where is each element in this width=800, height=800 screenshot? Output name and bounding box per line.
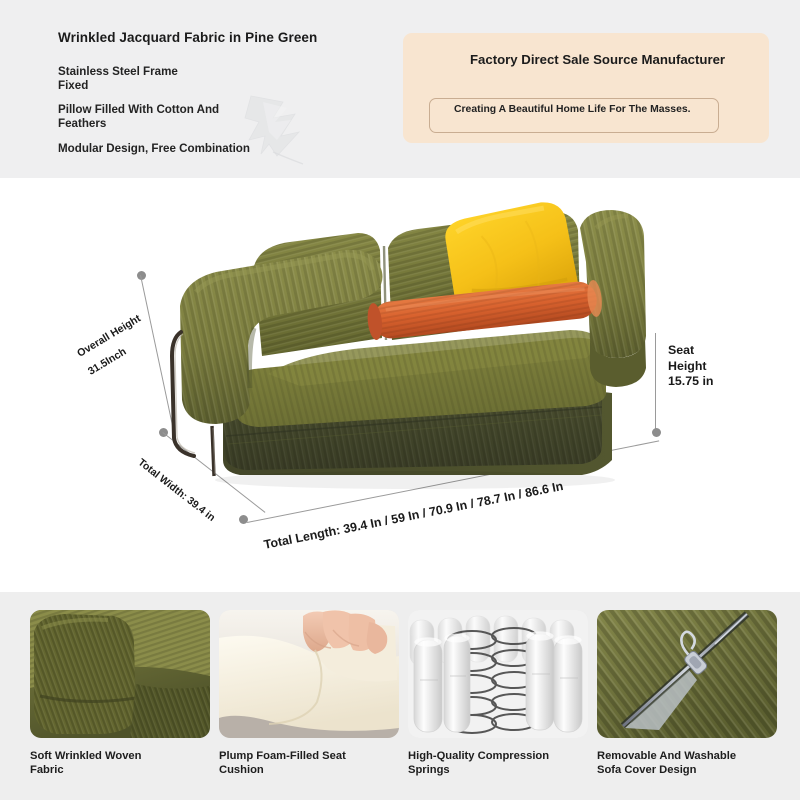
header-left-block: Wrinkled Jacquard Fabric in Pine Green S…: [58, 30, 388, 166]
feature-caption: Soft Wrinkled Woven Fabric: [30, 749, 210, 777]
feature-card[interactable]: Plump Foam-Filled Seat Cushion: [219, 610, 399, 777]
header-feature-list: Stainless Steel Frame Fixed Pillow Fille…: [58, 65, 388, 155]
slogan-box: Creating A Beautiful Home Life For The M…: [429, 98, 719, 133]
slogan-text: Creating A Beautiful Home Life For The M…: [454, 103, 704, 117]
dim-label-seat-height: Seat Height 15.75 in: [668, 343, 713, 390]
feature-card[interactable]: High-Quality Compression Springs: [408, 610, 588, 777]
page-title: Wrinkled Jacquard Fabric in Pine Green: [58, 30, 388, 47]
feature-caption: Plump Foam-Filled Seat Cushion: [219, 749, 399, 777]
product-detail-page: Wrinkled Jacquard Fabric in Pine Green S…: [0, 0, 800, 800]
hero-product-area: Overall Height 31.5Inch Total Width: 39.…: [0, 178, 800, 592]
header-feature-item: Modular Design, Free Combination: [58, 142, 388, 156]
feature-caption: Removable And Washable Sofa Cover Design: [597, 749, 777, 777]
corduroy-fabric-photo: [30, 610, 210, 738]
factory-promo-title: Factory Direct Sale Source Manufacturer: [470, 51, 750, 70]
header-feature-item: Stainless Steel Frame Fixed: [58, 65, 388, 92]
dim-label-overall-height: Overall Height 31.5Inch: [73, 309, 156, 382]
pocket-springs-photo: [408, 610, 588, 738]
sofa-illustration: [150, 188, 670, 528]
factory-promo-panel: Factory Direct Sale Source Manufacturer …: [403, 33, 769, 143]
zipper-cover-photo: [597, 610, 777, 738]
header-feature-item: Pillow Filled With Cotton And Feathers: [58, 103, 388, 130]
feature-card[interactable]: Removable And Washable Sofa Cover Design: [597, 610, 777, 777]
feature-card-row: Soft Wrinkled Woven Fabric: [0, 592, 800, 800]
feature-caption: High-Quality Compression Springs: [408, 749, 588, 777]
feature-card[interactable]: Soft Wrinkled Woven Fabric: [30, 610, 210, 777]
foam-cushion-photo: [219, 610, 399, 738]
